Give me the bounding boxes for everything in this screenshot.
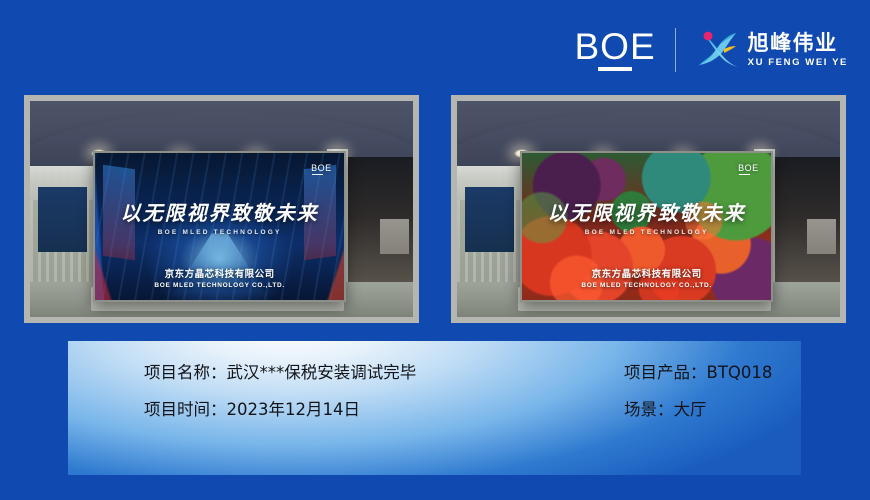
led-company-cn: 京东方晶芯科技有限公司 [522,266,771,280]
led-company-en: BOE MLED TECHNOLOGY CO.,LTD. [522,282,771,289]
boe-underline-bar-icon [739,174,750,176]
project-name-line: 项目名称：武汉***保税安装调试完毕 [144,364,624,382]
led-company-en: BOE MLED TECHNOLOGY CO.,LTD. [95,282,344,289]
header-logo-bar: BOE 旭峰伟业 XU FENG WEI YE [575,22,849,78]
slide-root: BOE 旭峰伟业 XU FENG WEI YE [0,0,870,500]
logo-divider [675,28,676,72]
photo-row: BOE 以无限视界致敬未来 BOE MLED TECHNOLOGY 京东方晶芯科… [24,95,846,323]
boe-wordmark: BOE [575,29,656,64]
photo-left[interactable]: BOE 以无限视界致敬未来 BOE MLED TECHNOLOGY 京东方晶芯科… [24,95,419,323]
adjacent-room [340,157,413,291]
partner-name-cn: 旭峰伟业 [748,33,848,54]
partner-name-en: XU FENG WEI YE [748,58,848,68]
boe-logo: BOE [575,29,658,71]
led-slogan-cn: 以无限视界致敬未来 [95,197,344,226]
xufeng-bird-x-mark-icon [693,29,741,71]
project-info-panel: 项目名称：武汉***保税安装调试完毕 项目时间：2023年12月14日 项目产品… [68,341,801,475]
wall-blue-panel [465,187,515,252]
project-product-line: 项目产品：BTQ018 [624,364,801,382]
project-info-grid: 项目名称：武汉***保税安装调试完毕 项目时间：2023年12月14日 项目产品… [68,341,801,475]
led-slogan-en: BOE MLED TECHNOLOGY [95,229,344,236]
partner-logo: 旭峰伟业 XU FENG WEI YE [693,29,848,71]
led-video-wall: BOE 以无限视界致敬未来 BOE MLED TECHNOLOGY 京东方晶芯科… [93,151,346,302]
led-boe-logo: BOE [311,163,332,176]
adjacent-room [767,157,840,291]
photo-right[interactable]: BOE 以无限视界致敬未来 BOE MLED TECHNOLOGY 京东方晶芯科… [451,95,846,323]
led-video-wall: BOE 以无限视界致敬未来 BOE MLED TECHNOLOGY 京东方晶芯科… [520,151,773,302]
wall-blue-panel [38,187,88,252]
photo-right-image: BOE 以无限视界致敬未来 BOE MLED TECHNOLOGY 京东方晶芯科… [457,101,840,317]
boe-underline-bar-icon [598,67,632,71]
led-boe-logo: BOE [738,163,759,176]
project-info-right-column: 项目产品：BTQ018 场景：大厅 [624,364,801,419]
led-slogan-cn: 以无限视界致敬未来 [522,197,771,226]
led-company-cn: 京东方晶芯科技有限公司 [95,266,344,280]
project-date-line: 项目时间：2023年12月14日 [144,401,624,419]
photo-left-image: BOE 以无限视界致敬未来 BOE MLED TECHNOLOGY 京东方晶芯科… [30,101,413,317]
boe-underline-bar-icon [312,174,323,176]
partner-logo-text: 旭峰伟业 XU FENG WEI YE [748,33,848,68]
project-info-left-column: 项目名称：武汉***保税安装调试完毕 项目时间：2023年12月14日 [144,364,624,419]
led-slogan-en: BOE MLED TECHNOLOGY [522,229,771,236]
project-scene-line: 场景：大厅 [624,401,801,419]
